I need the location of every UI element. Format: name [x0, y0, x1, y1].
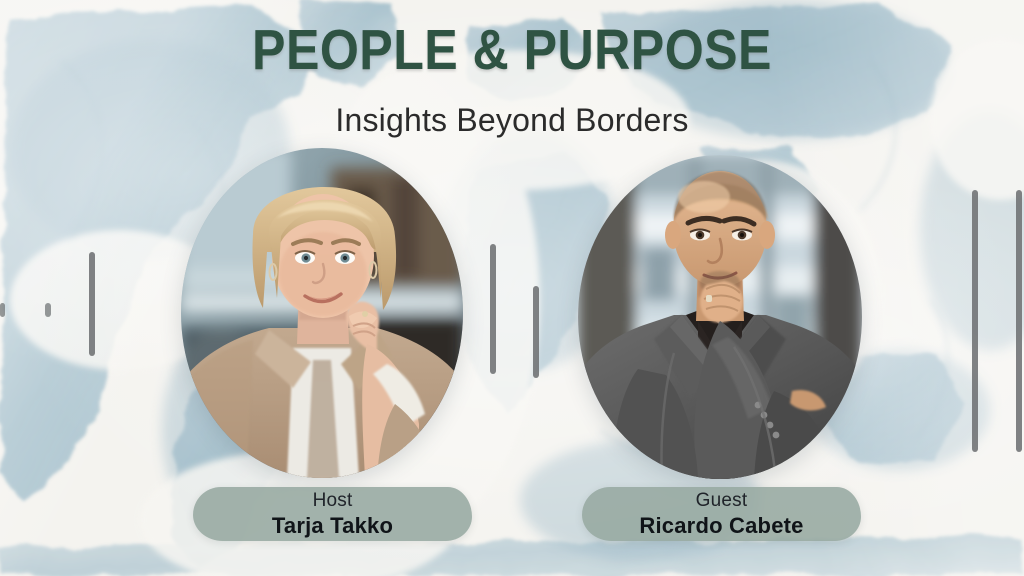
decor-bar-right-outer	[1016, 190, 1022, 452]
host-name-label: Tarja Takko	[272, 513, 393, 539]
world-map-background	[0, 0, 1024, 576]
host-role-label: Host	[313, 490, 353, 512]
presentation-slide: PEOPLE & PURPOSE Insights Beyond Borders	[0, 0, 1024, 576]
decor-bar-left-outer	[89, 252, 95, 356]
page-title: PEOPLE & PURPOSE	[61, 21, 962, 79]
guest-role-label: Guest	[696, 490, 748, 512]
host-portrait	[181, 148, 463, 478]
decor-dot-near-left	[45, 303, 51, 317]
guest-name-plate: Guest Ricardo Cabete	[582, 487, 861, 541]
decor-dot-far-left	[0, 303, 5, 317]
page-subtitle: Insights Beyond Borders	[0, 103, 1024, 137]
guest-name-label: Ricardo Cabete	[639, 513, 803, 539]
host-name-plate: Host Tarja Takko	[193, 487, 472, 541]
decor-bar-center-left	[490, 244, 496, 374]
guest-portrait	[578, 155, 862, 479]
decor-bar-center-right	[533, 286, 539, 378]
decor-bar-right-inner	[972, 190, 978, 452]
